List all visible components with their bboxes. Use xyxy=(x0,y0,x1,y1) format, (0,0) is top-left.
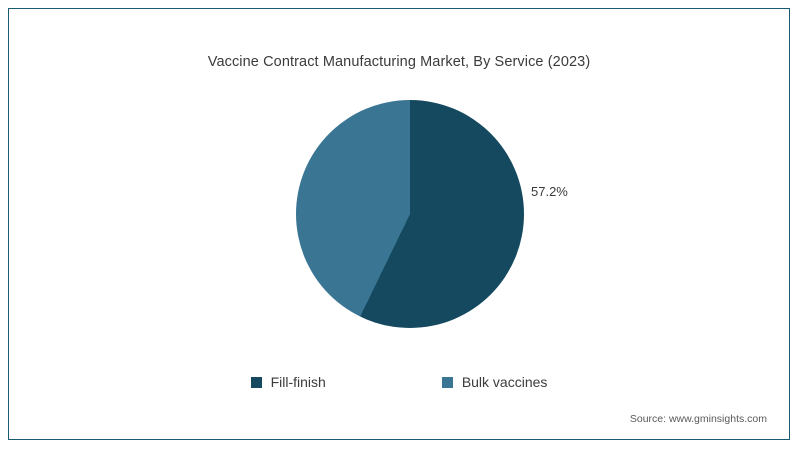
legend-swatch-icon xyxy=(442,377,453,388)
legend-swatch-icon xyxy=(251,377,262,388)
pie-slice-label-fill-finish: 57.2% xyxy=(531,184,568,199)
chart-frame: Vaccine Contract Manufacturing Market, B… xyxy=(8,8,790,440)
legend-label: Fill-finish xyxy=(271,374,326,390)
page-title: Vaccine Contract Manufacturing Market, B… xyxy=(9,54,789,70)
pie-slices xyxy=(296,100,524,328)
legend-label: Bulk vaccines xyxy=(462,374,548,390)
legend-item-fill-finish[interactable]: Fill-finish xyxy=(251,374,326,390)
legend: Fill-finish Bulk vaccines xyxy=(9,374,789,390)
pie-chart xyxy=(296,100,524,328)
legend-item-bulk-vaccines[interactable]: Bulk vaccines xyxy=(442,374,548,390)
source-caption: Source: www.gminsights.com xyxy=(630,413,767,425)
